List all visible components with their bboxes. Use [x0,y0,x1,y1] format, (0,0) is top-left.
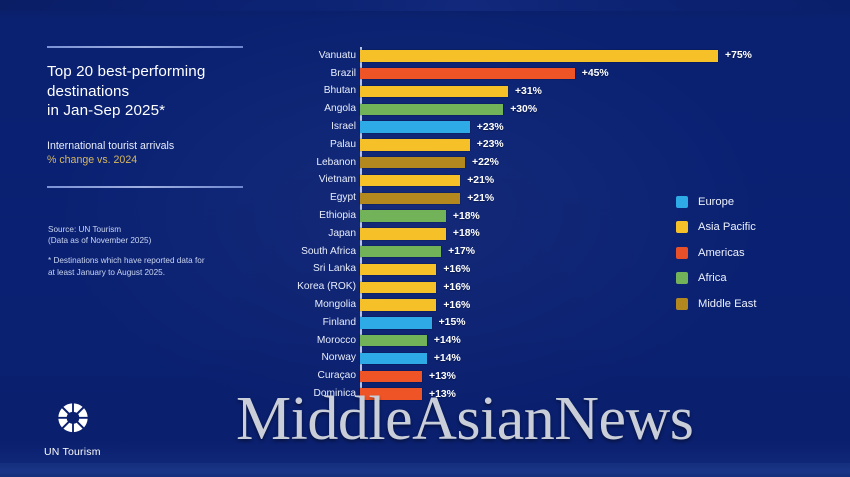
infographic-canvas: Top 20 best-performing destinations in J… [0,0,850,477]
bar [360,282,436,294]
legend-swatch [676,221,688,233]
divider-top [47,46,243,48]
bar-track: +14% [360,350,790,368]
bar-track: +13% [360,367,790,385]
bar [360,353,427,365]
bar-category-label: Japan [290,228,360,240]
bar-value-label: +13% [429,371,456,382]
bar-category-label: Angola [290,103,360,115]
bar-value-label: +16% [443,264,470,275]
bar [360,388,422,400]
bar-track: +31% [360,83,790,101]
bar [360,175,460,187]
bar-category-label: Dominica [290,388,360,400]
chart-row: Morocco+14% [290,332,790,350]
bar-value-label: +23% [477,122,504,133]
bar-track: +75% [360,47,790,65]
footnote-line-2: at least January to August 2025. [48,267,258,278]
bar-value-label: +14% [434,353,461,364]
bar [360,264,436,276]
legend-label: Americas [698,247,745,259]
bar [360,228,446,240]
chart-row: Israel+23% [290,118,790,136]
chart-row: Finland+15% [290,314,790,332]
footnote-line-1: * Destinations which have reported data … [48,255,258,266]
legend-label: Africa [698,272,727,284]
bar-category-label: Sri Lanka [290,263,360,275]
bar-value-label: +18% [453,228,480,239]
bar-category-label: Curaçao [290,370,360,382]
bar-value-label: +17% [448,246,475,257]
bar-category-label: Egypt [290,192,360,204]
bar-category-label: South Africa [290,246,360,258]
bar-value-label: +21% [467,175,494,186]
bar-category-label: Morocco [290,335,360,347]
logo-label: UN Tourism [44,446,154,458]
background-top-band [0,0,850,11]
bar-track: +15% [360,314,790,332]
bar-value-label: +21% [467,193,494,204]
legend-item: Africa [676,266,756,292]
bar [360,210,446,222]
bar-category-label: Palau [290,139,360,151]
chart-row: Palau+23% [290,136,790,154]
chart-row: Dominica+13% [290,385,790,403]
bar [360,371,422,383]
legend-swatch [676,298,688,310]
bar [360,193,460,205]
chart-row: Angola+30% [290,100,790,118]
bar-category-label: Mongolia [290,299,360,311]
legend-swatch [676,247,688,259]
legend-item: Americas [676,240,756,266]
bar-track: +23% [360,136,790,154]
legend-item: Asia Pacific [676,215,756,241]
chart-row: Norway+14% [290,350,790,368]
bar-category-label: Israel [290,121,360,133]
bar-category-label: Ethiopia [290,210,360,222]
bar-category-label: Brazil [290,68,360,80]
chart-row: Curaçao+13% [290,367,790,385]
bar-category-label: Norway [290,352,360,364]
chart-row: Brazil+45% [290,65,790,83]
title-line-3: in Jan-Sep 2025* [47,102,165,119]
bar [360,317,432,329]
bar-track: +13% [360,385,790,403]
bar [360,139,470,151]
bar [360,299,436,311]
bar-value-label: +16% [443,282,470,293]
bar-value-label: +16% [443,300,470,311]
chart-row: Bhutan+31% [290,83,790,101]
bar-category-label: Vietnam [290,174,360,186]
bar-category-label: Finland [290,317,360,329]
bar [360,157,465,169]
bar-value-label: +22% [472,157,499,168]
source-line-1: Source: UN Tourism [48,224,258,235]
bar [360,104,503,116]
legend-swatch [676,272,688,284]
chart-legend: EuropeAsia PacificAmericasAfricaMiddle E… [676,189,756,317]
background-bottom-band [0,463,850,477]
bar-track: +14% [360,332,790,350]
bar-value-label: +23% [477,139,504,150]
bar-track: +45% [360,65,790,83]
chart-row: Lebanon+22% [290,154,790,172]
bar-value-label: +13% [429,389,456,400]
divider-bottom [47,186,243,188]
bar-category-label: Vanuatu [290,50,360,62]
title-line-1: Top 20 best-performing [47,63,205,80]
bar-track: +22% [360,154,790,172]
legend-label: Asia Pacific [698,221,756,233]
legend-label: Europe [698,196,734,208]
legend-item: Europe [676,189,756,215]
bar [360,86,508,98]
chart-row: Vietnam+21% [290,172,790,190]
bar-value-label: +31% [515,86,542,97]
bar-track: +21% [360,172,790,190]
un-tourism-globe-icon [52,400,94,442]
title-line-2: destinations [47,83,129,100]
bar-track: +23% [360,118,790,136]
bar-value-label: +18% [453,211,480,222]
page-title: Top 20 best-performing destinations in J… [47,62,243,121]
source-spacer [48,246,258,255]
bar-value-label: +75% [725,50,752,61]
source-line-2: (Data as of November 2025) [48,235,258,246]
bar-value-label: +30% [510,104,537,115]
subtitle-text: International tourist arrivals [47,140,174,152]
subtitle-metric: % change vs. 2024 [47,153,243,168]
info-panel: Top 20 best-performing destinations in J… [47,46,243,188]
legend-swatch [676,196,688,208]
bar-value-label: +15% [439,317,466,328]
bar [360,68,575,80]
brand-logo: UN Tourism [44,400,154,458]
bar [360,335,427,347]
bar [360,121,470,133]
bar-value-label: +14% [434,335,461,346]
bar-category-label: Bhutan [290,85,360,97]
bar-category-label: Lebanon [290,157,360,169]
bar-category-label: Korea (ROK) [290,281,360,293]
source-note: Source: UN Tourism (Data as of November … [48,224,258,278]
chart-row: Vanuatu+75% [290,47,790,65]
legend-item: Middle East [676,291,756,317]
bar [360,246,441,258]
legend-label: Middle East [698,298,756,310]
panel-subtitle: International tourist arrivals % change … [47,139,243,168]
bar-value-label: +45% [582,68,609,79]
bar-track: +30% [360,100,790,118]
bar [360,50,718,62]
